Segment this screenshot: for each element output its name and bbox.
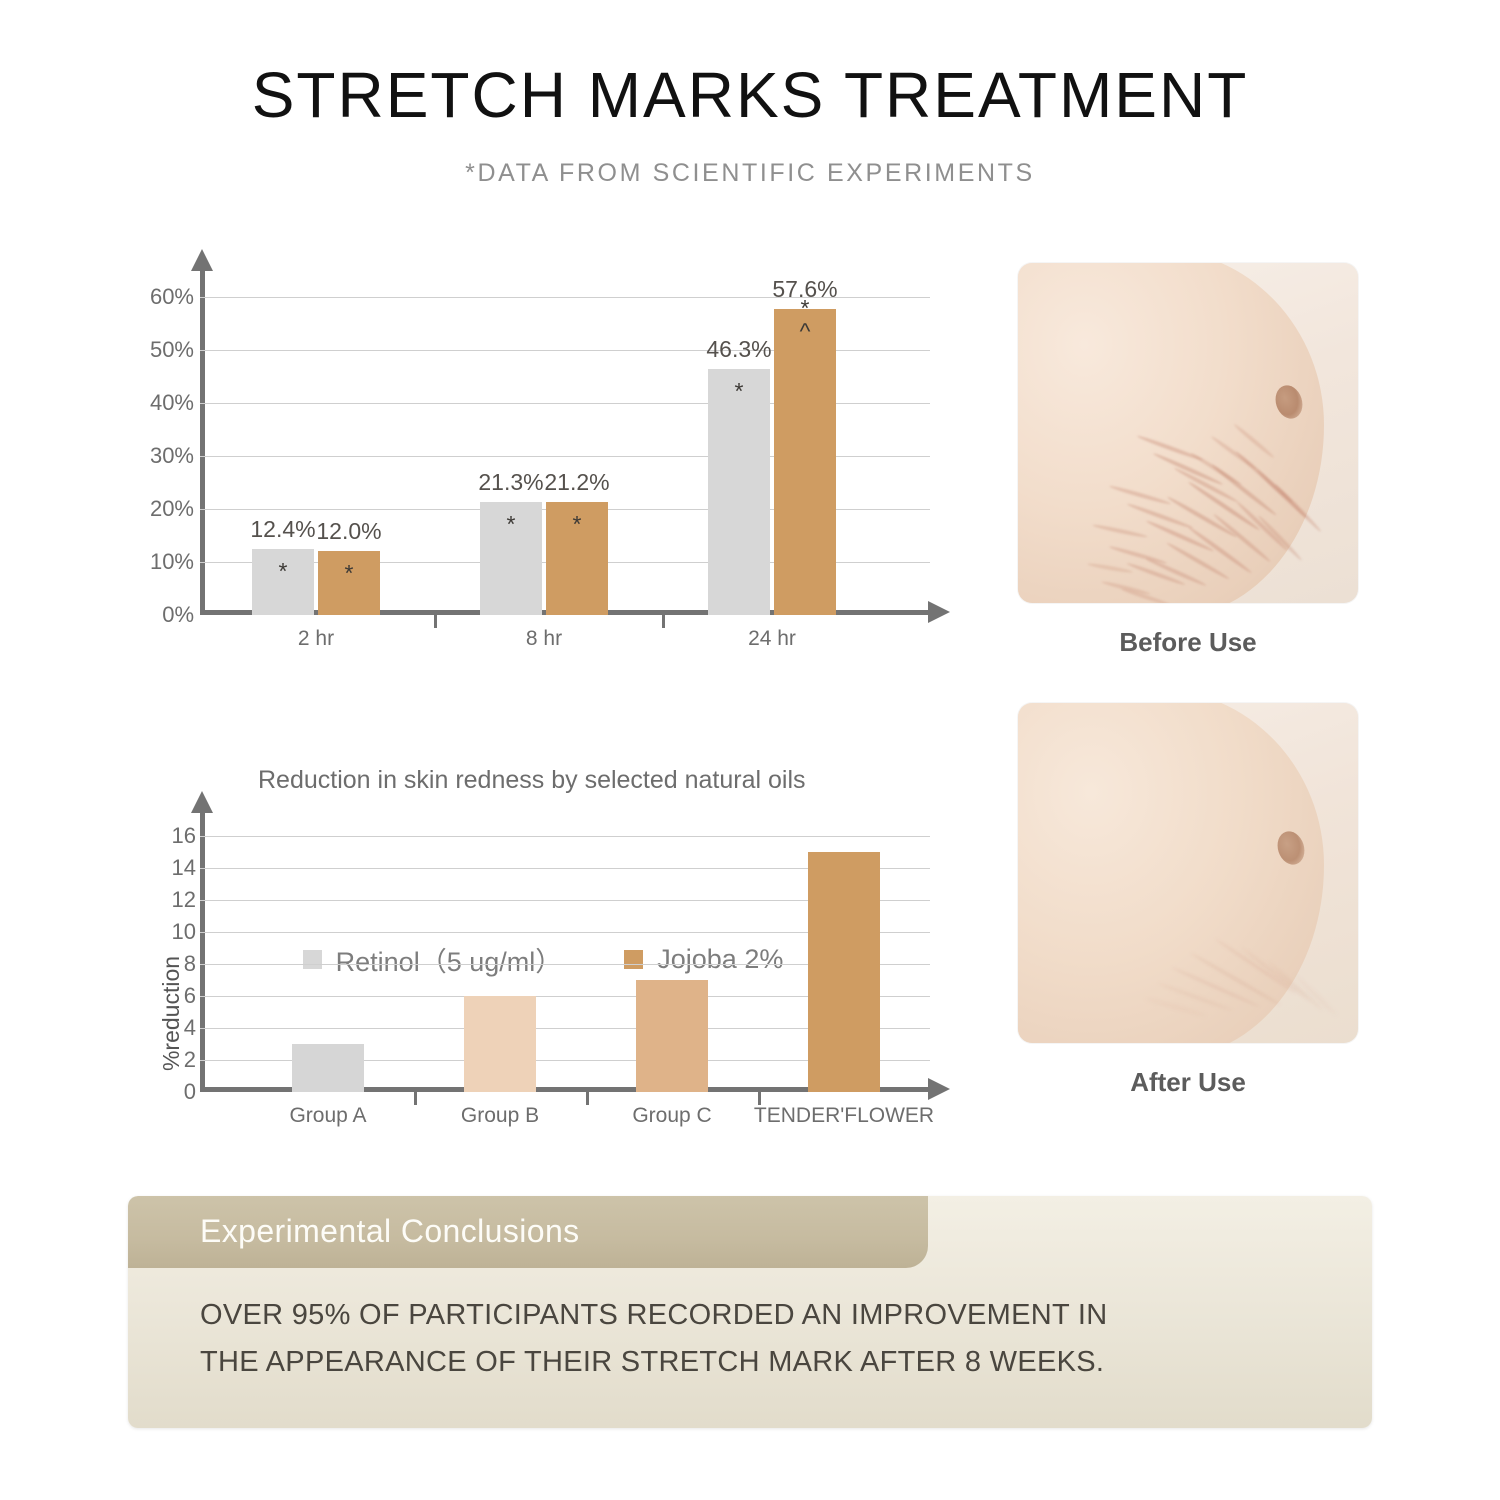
stretch-mark-line [1157,982,1233,1012]
chart2-y-tick-label: 16 [172,823,196,849]
photo-card-after: After Use [1018,703,1358,1098]
stretch-mark-line [1235,500,1288,552]
chart1-y-tick-label: 40% [150,390,194,416]
header: STRETCH MARKS TREATMENT *DATA FROM SCIEN… [0,0,1500,188]
chart1-x-axis-arrow [928,601,950,623]
chart1-bar-value-label: 12.0% [304,518,394,545]
chart1-y-tick-label: 20% [150,496,194,522]
chart-skin-redness-reduction: Reduction in skin redness by selected na… [128,770,958,1170]
conclusions-line-1: OVER 95% OF PARTICIPANTS RECORDED AN IMP… [200,1292,1322,1339]
chart1-bar [708,369,770,615]
chart2-y-tick-label: 8 [184,951,196,977]
chart2-bar [464,996,536,1092]
chart1-y-axis-labels: 0%10%20%30%40%50%60% [128,245,194,645]
chart2-y-axis-arrow [191,791,213,813]
conclusions-line-2: THE APPEARANCE OF THEIR STRETCH MARK AFT… [200,1339,1322,1386]
stretch-mark-line [1092,523,1148,539]
chart1-x-category-label: 2 hr [212,627,420,651]
stretch-mark-line [1241,946,1311,1001]
chart2-bar [808,852,880,1092]
stretch-mark-line [1267,960,1324,1012]
photo-caption-before: Before Use [1018,627,1358,658]
charts-column: 0%10%20%30%40%50%60% 12.4%*12.0%*21.3%*2… [128,245,958,1175]
stretch-marks-before [1018,263,1358,603]
photo-caption-after: After Use [1018,1067,1358,1098]
chart1-y-tick-label: 60% [150,284,194,310]
stretch-mark-line [1173,466,1238,503]
photo-before-use [1018,263,1358,603]
chart2-bar [636,980,708,1092]
chart2-y-tick-label: 12 [172,887,196,913]
chart1-x-category-label: 24 hr [668,627,876,651]
chart1-y-axis [200,270,205,615]
chart2-x-axis-arrow [928,1078,950,1100]
chart2-y-tick-label: 6 [184,983,196,1009]
chart1-significance-marker: * [480,513,542,536]
chart2-x-category-label: Group A [230,1104,426,1128]
page-title: STRETCH MARKS TREATMENT [0,62,1500,129]
chart2-y-axis [200,812,205,1092]
chart1-y-tick-label: 30% [150,443,194,469]
experimental-conclusions-panel: Experimental Conclusions OVER 95% OF PAR… [128,1196,1372,1428]
chart1-y-tick-label: 10% [150,549,194,575]
chart2-title: Reduction in skin redness by selected na… [258,766,806,795]
chart2-y-tick-label: 10 [172,919,196,945]
stretch-mark-line [1293,973,1338,1017]
stretch-mark-line [1214,937,1297,994]
chart1-y-axis-arrow [191,249,213,271]
stretch-mark-line [1121,587,1172,603]
stretch-mark-line [1274,483,1323,533]
chart2-bar [292,1044,364,1092]
chart1-plot-area: 12.4%*12.0%*21.3%*21.2%*46.3%*57.6%*^ [200,270,930,615]
photo-after-use [1018,703,1358,1043]
chart1-significance-marker: * [252,560,314,583]
chart2-y-tick-label: 0 [184,1079,196,1105]
chart2-x-category-label: TENDER'FLOWER [746,1104,942,1128]
chart2-y-tick-label: 4 [184,1015,196,1041]
chart1-significance-marker: * [708,380,770,403]
chart1-bar-value-label: 46.3% [694,336,784,363]
photo-card-before: Before Use [1018,263,1358,658]
chart2-y-tick-label: 14 [172,855,196,881]
page-subtitle: *DATA FROM SCIENTIFIC EXPERIMENTS [0,159,1500,188]
chart1-significance-marker: * [318,562,380,585]
conclusions-tab-label: Experimental Conclusions [200,1213,580,1250]
chart1-y-tick-label: 50% [150,337,194,363]
conclusions-body: OVER 95% OF PARTICIPANTS RECORDED AN IMP… [200,1292,1322,1386]
chart1-significance-marker: * [546,513,608,536]
chart2-y-tick-label: 2 [184,1047,196,1073]
main-content: 0%10%20%30%40%50%60% 12.4%*12.0%*21.3%*2… [0,245,1500,1175]
chart2-plot-area [200,812,930,1092]
stretch-mark-line [1109,484,1172,505]
chart1-x-category-label: 8 hr [440,627,648,651]
chart1-x-axis-labels: 2 hr8 hr24 hr [200,627,930,667]
stretch-mark-line [1136,434,1203,462]
stretch-mark-line [1144,997,1206,1018]
chart1-y-tick-label: 0% [162,602,194,628]
chart2-gridline [200,836,930,837]
chart2-x-category-label: Group B [402,1104,598,1128]
chart1-bar-value-label: 21.2% [532,469,622,496]
stretch-mark-line [1187,525,1252,574]
chart1-bar [774,309,836,615]
chart2-x-category-label: Group C [574,1104,770,1128]
chart2-y-axis-labels: 0246810121416 [128,770,196,1100]
chart1-significance-marker: *^ [774,297,836,343]
stretch-marks-after [1018,703,1358,1043]
chart2-x-axis-labels: Group AGroup BGroup CTENDER'FLOWER [200,1104,930,1144]
